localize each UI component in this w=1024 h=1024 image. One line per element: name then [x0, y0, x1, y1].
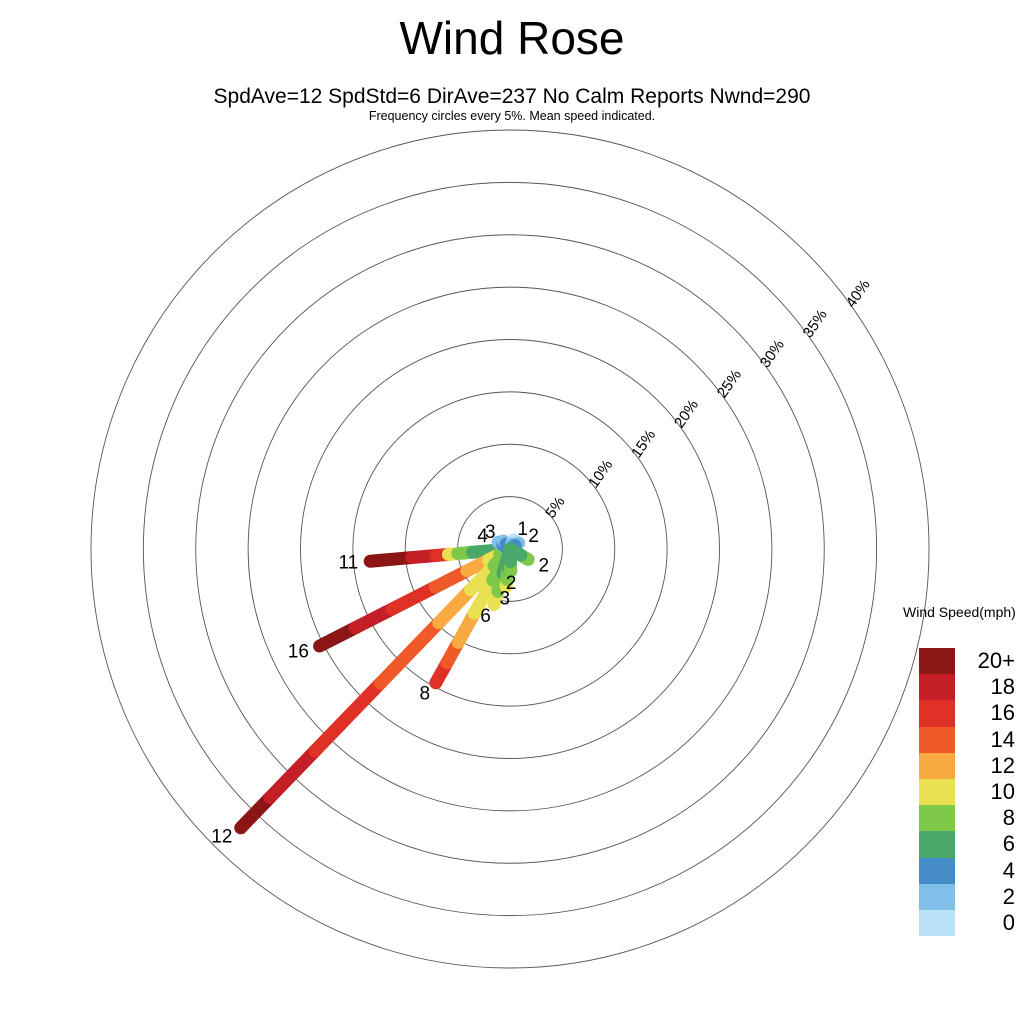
- legend-color-swatch: [919, 831, 955, 857]
- petal-mean-speed-label: 12: [211, 826, 232, 847]
- petal-segment: [270, 751, 315, 798]
- legend-color-swatch: [919, 805, 955, 831]
- petal-mean-speed-label: 8: [419, 683, 430, 704]
- petal-mean-speed-label: 16: [288, 641, 309, 662]
- legend-label: 6: [955, 831, 1021, 857]
- legend-label: 4: [955, 858, 1021, 884]
- legend-color-swatch: [919, 727, 955, 753]
- radial-tick-label: 10%: [585, 457, 616, 491]
- petal-mean-speed-label: 6: [480, 606, 491, 627]
- legend-row: 8: [919, 805, 1024, 831]
- petal-mean-speed-label: 2: [539, 555, 550, 576]
- radial-axis-labels: 5%10%15%20%25%30%35%40%: [542, 277, 873, 522]
- polar-plot: 5%10%15%20%25%30%35%40% 111612863243122: [0, 0, 1024, 1024]
- legend-label: 14: [955, 727, 1021, 753]
- legend-label: 18: [955, 674, 1021, 700]
- petal-segment: [315, 683, 380, 751]
- petal-mean-speed-label: 3: [485, 522, 496, 543]
- legend-row: 2: [919, 884, 1024, 910]
- wind-rose-figure: Wind Rose SpdAve=12 SpdStd=6 DirAve=237 …: [0, 0, 1024, 1024]
- petal-segment: [510, 549, 521, 555]
- legend-color-swatch: [919, 700, 955, 726]
- petal-mean-speed-label: 2: [528, 526, 539, 547]
- legend-row: 16: [919, 700, 1024, 726]
- legend-row: 20+: [919, 648, 1024, 674]
- legend-row: 0: [919, 910, 1024, 936]
- radial-tick-label: 40%: [843, 277, 874, 311]
- legend-color-swatch: [919, 779, 955, 805]
- legend-color-swatch: [919, 884, 955, 910]
- radial-tick-label: 5%: [542, 494, 568, 522]
- legend-color-swatch: [919, 910, 955, 936]
- wind-petals: [241, 540, 528, 828]
- legend-color-swatch: [919, 858, 955, 884]
- legend-color-swatch: [919, 753, 955, 779]
- radial-tick-label: 15%: [628, 427, 659, 461]
- petal-mean-speed-label: 1: [517, 519, 528, 540]
- legend-title: Wind Speed(mph): [903, 603, 1016, 621]
- legend-label: 8: [955, 805, 1021, 831]
- radial-tick-label: 30%: [757, 337, 788, 371]
- legend-label: 16: [955, 700, 1021, 726]
- radial-tick-label: 35%: [800, 307, 831, 341]
- legend-label: 0: [955, 910, 1021, 936]
- legend-label: 2: [955, 884, 1021, 910]
- legend-label: 10: [955, 779, 1021, 805]
- petal-mean-speed-label: 11: [338, 552, 358, 573]
- legend-label: 20+: [955, 648, 1021, 674]
- petal-segment: [380, 623, 438, 683]
- legend-row: 4: [919, 858, 1024, 884]
- legend-row: 10: [919, 779, 1024, 805]
- legend-color-swatch: [919, 648, 955, 674]
- legend-row: 14: [919, 727, 1024, 753]
- radial-tick-label: 25%: [714, 367, 745, 401]
- petal-mean-speed-label: 2: [506, 573, 517, 594]
- radial-tick-label: 20%: [671, 397, 702, 431]
- legend-row: 18: [919, 674, 1024, 700]
- legend-row: 12: [919, 753, 1024, 779]
- legend-row: 6: [919, 831, 1024, 857]
- legend: 20+181614121086420: [919, 648, 1024, 936]
- legend-label: 12: [955, 753, 1021, 779]
- legend-color-swatch: [919, 674, 955, 700]
